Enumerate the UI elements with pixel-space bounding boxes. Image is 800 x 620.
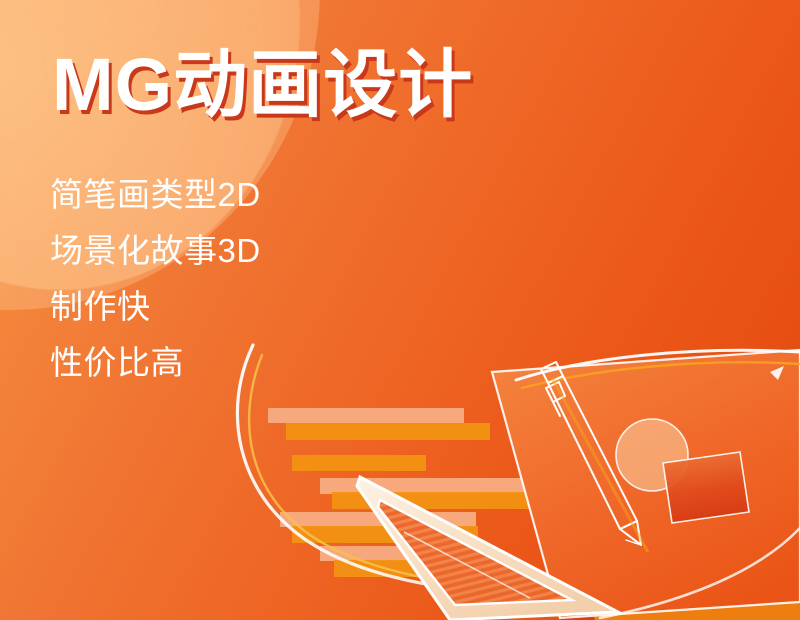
feature-list: 简笔画类型2D 场景化故事3D 制作快 性价比高 bbox=[50, 178, 261, 379]
feature-item-4: 性价比高 bbox=[50, 346, 261, 379]
feature-item-1: 简笔画类型2D bbox=[50, 178, 261, 211]
feature-item-2: 场景化故事3D bbox=[50, 234, 261, 267]
feature-item-3: 制作快 bbox=[50, 290, 261, 323]
page-title: MG动画设计 bbox=[52, 48, 473, 122]
poster-canvas: MG动画设计 简笔画类型2D 场景化故事3D 制作快 性价比高 bbox=[0, 0, 800, 620]
rectangle-shape bbox=[663, 452, 749, 523]
